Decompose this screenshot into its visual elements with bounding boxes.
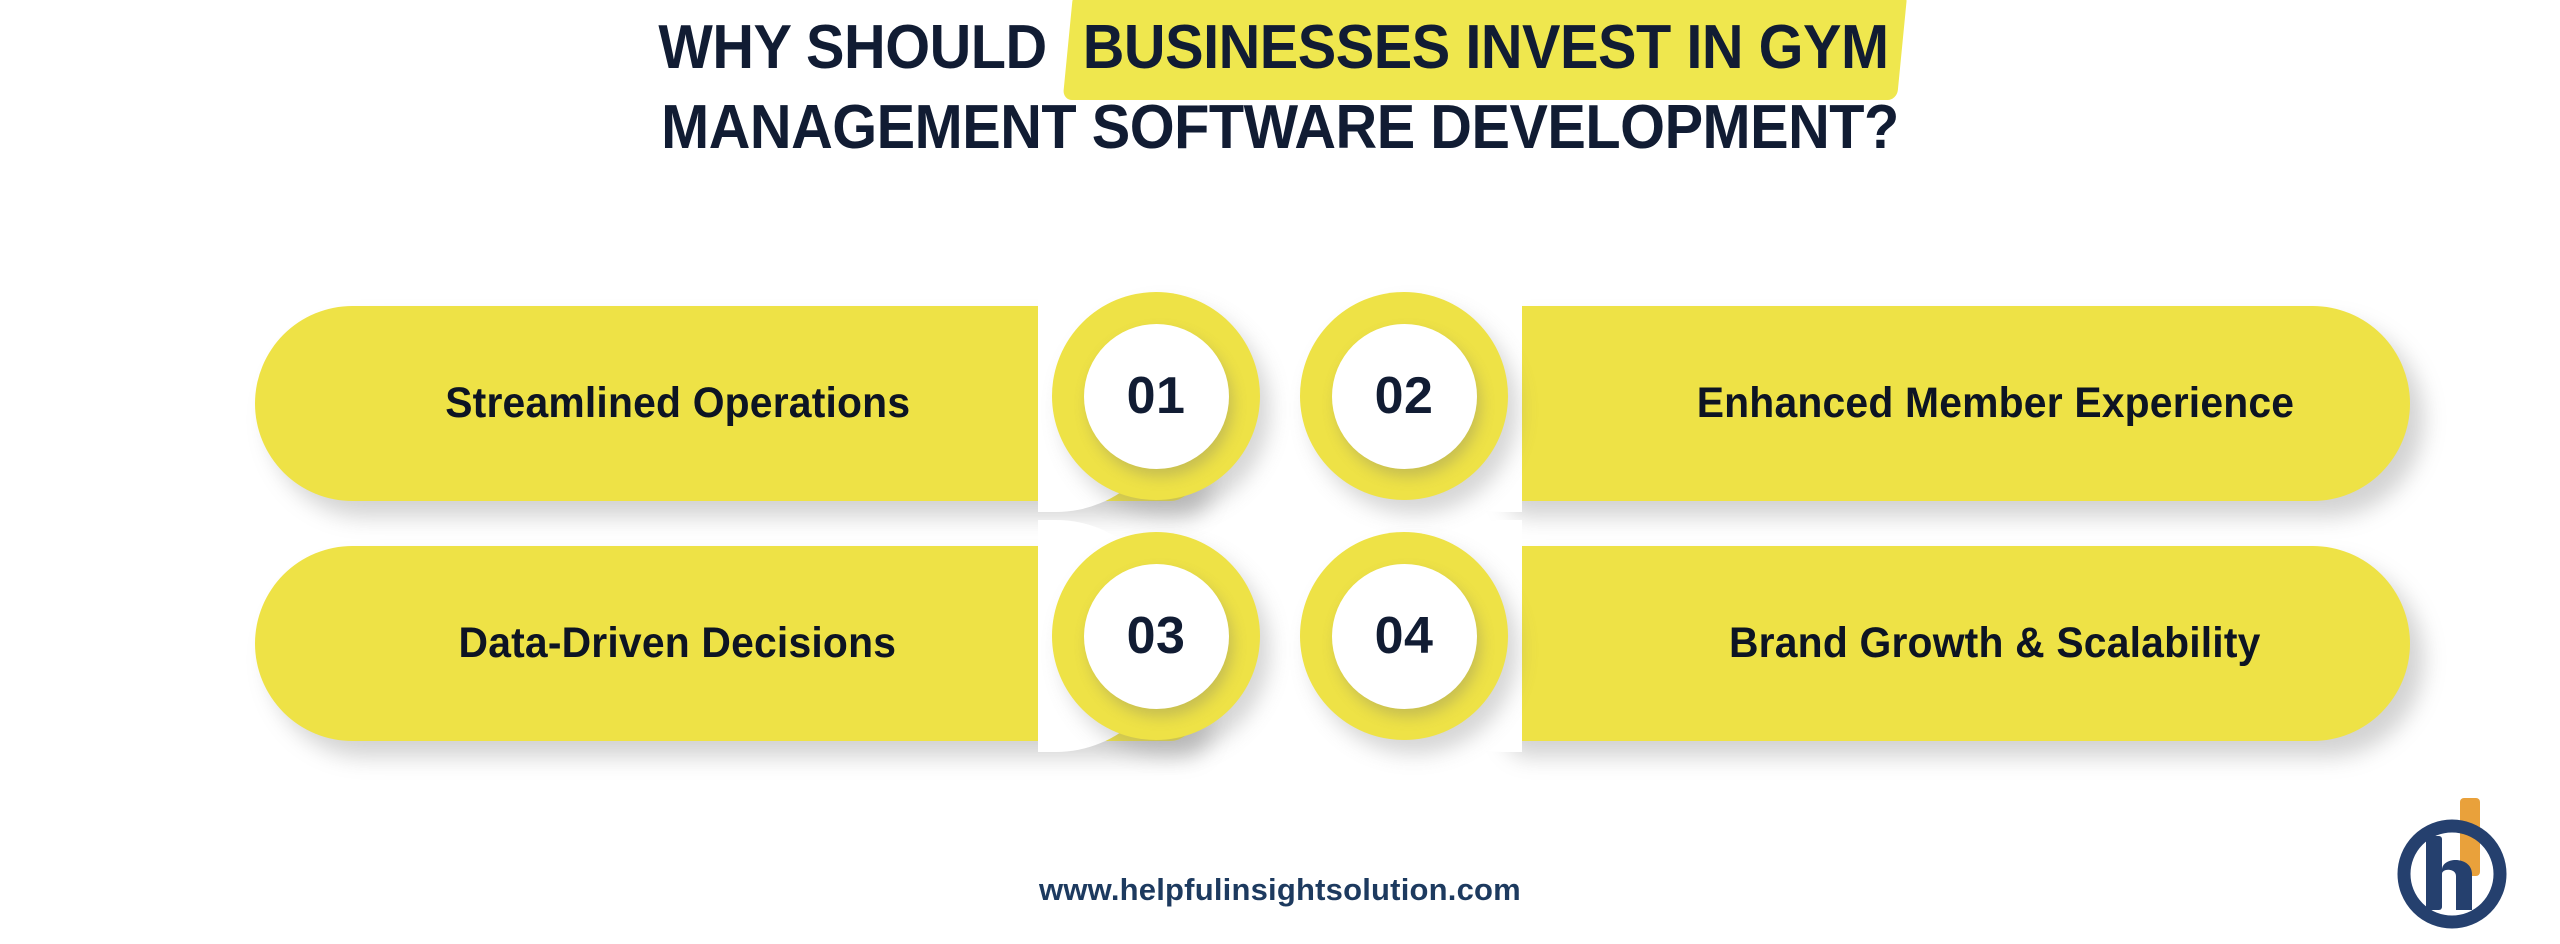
benefit-number-02: 02 [1375,366,1434,426]
title-highlight: BUSINESSES INVEST IN GYM [1068,8,1902,88]
benefit-number-badge-03[interactable]: 03 [1052,532,1260,740]
benefit-label-04: Brand Growth & Scalability [1729,619,2261,668]
benefit-label-03: Data-Driven Decisions [459,619,897,668]
benefit-number-inner-01: 01 [1084,324,1229,469]
benefit-number-badge-02[interactable]: 02 [1300,292,1508,500]
benefit-label-02: Enhanced Member Experience [1696,379,2293,428]
website-url[interactable]: www.helpfulinsightsolution.com [0,872,2560,908]
benefit-number-badge-04[interactable]: 04 [1300,532,1508,740]
title-line-1: WHY SHOULD BUSINESSES INVEST IN GYM [90,8,2471,88]
benefit-number-inner-02: 02 [1332,324,1477,469]
title-highlight-text: BUSINESSES INVEST IN GYM [1083,13,1889,82]
benefit-number-inner-03: 03 [1084,564,1229,709]
benefit-number-badge-01[interactable]: 01 [1052,292,1260,500]
page-title: WHY SHOULD BUSINESSES INVEST IN GYM MANA… [0,8,2560,168]
benefit-number-03: 03 [1127,606,1186,666]
benefit-number-04: 04 [1375,606,1434,666]
benefit-number-01: 01 [1127,366,1186,426]
benefit-number-inner-04: 04 [1332,564,1477,709]
title-line-2: MANAGEMENT SOFTWARE DEVELOPMENT? [90,88,2471,168]
benefits-row-2: Data-Driven Decisions Brand Growth & Sca… [0,532,2560,740]
benefit-card-04[interactable]: Brand Growth & Scalability [1490,546,2410,741]
company-logo-icon [2392,794,2522,934]
benefits-list: Streamlined Operations Enhanced Member E… [0,292,2560,752]
benefit-card-02[interactable]: Enhanced Member Experience [1490,306,2410,501]
title-line-1-prefix: WHY SHOULD [658,8,1046,88]
benefit-label-01: Streamlined Operations [445,379,910,428]
benefits-row-1: Streamlined Operations Enhanced Member E… [0,292,2560,500]
